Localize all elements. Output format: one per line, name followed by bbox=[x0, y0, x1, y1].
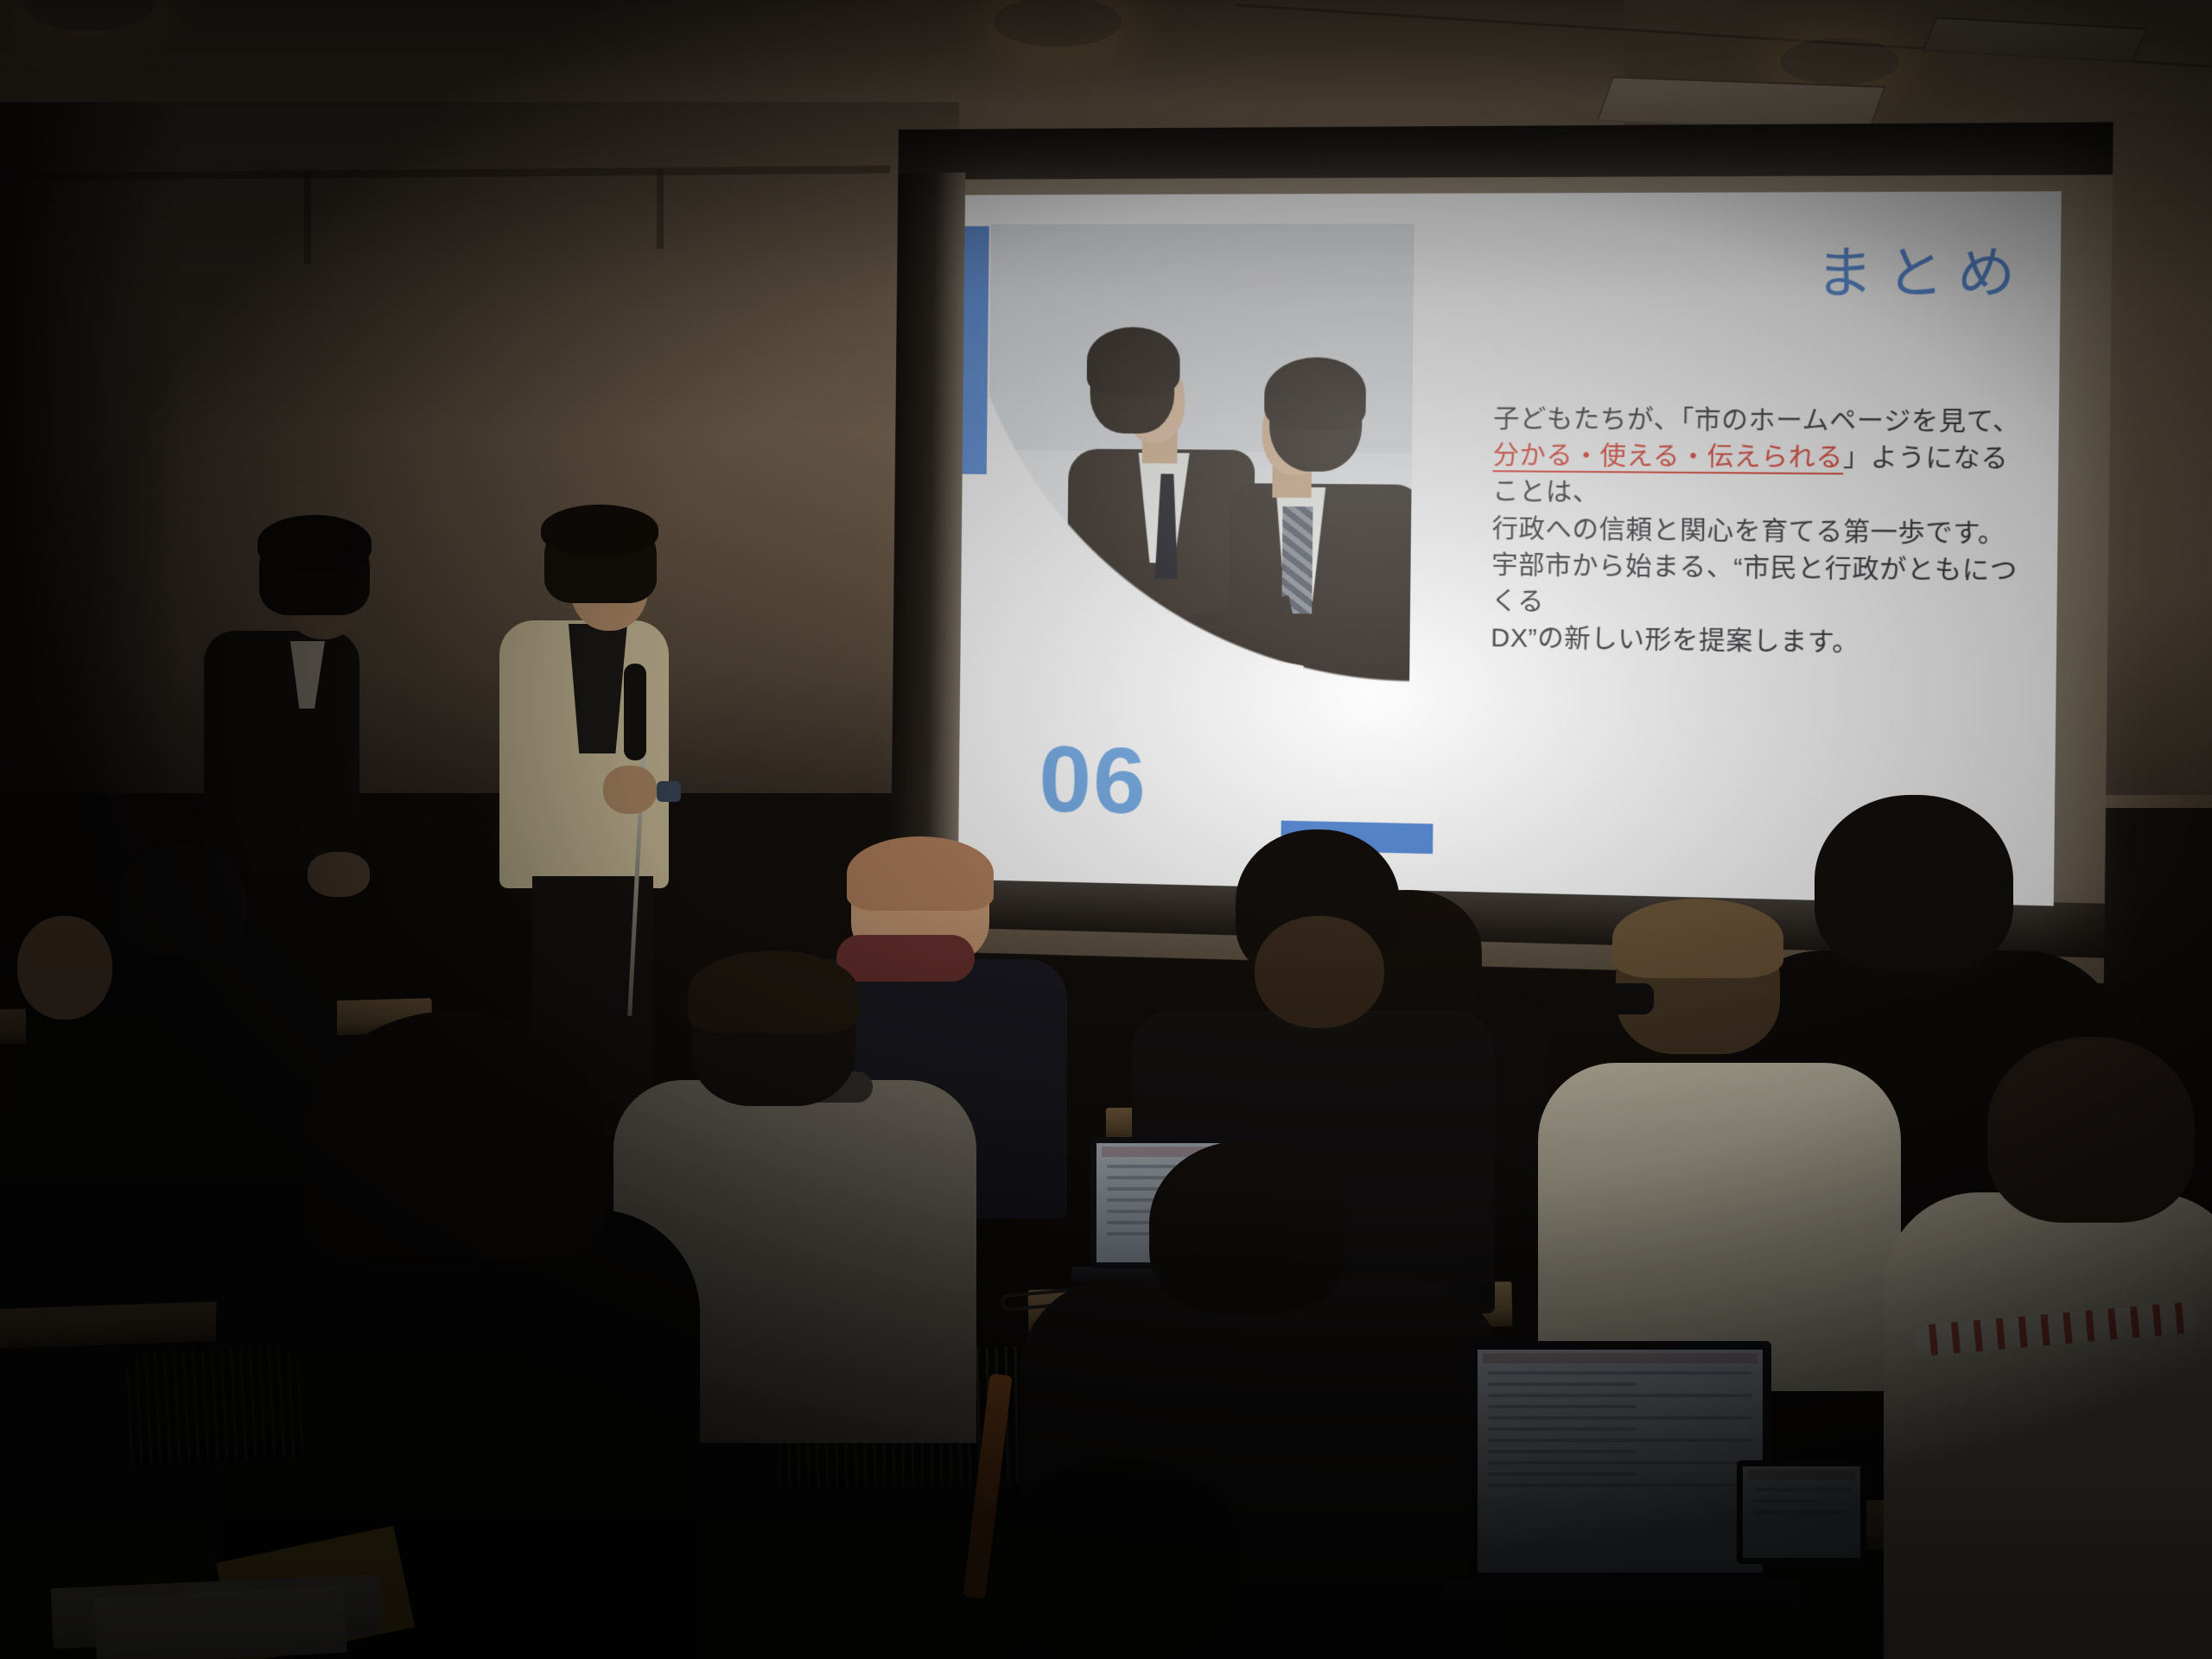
slide-section-number: 06 bbox=[1039, 732, 1148, 828]
presenter-left-hair-front bbox=[257, 515, 372, 570]
slide-title: まとめ bbox=[1815, 227, 2029, 308]
businessman-right-hair bbox=[1264, 357, 1366, 429]
slide-body-text: 子どもたちが、「市のホームページを見て、分かる・使える・伝えられる」ようになるこ… bbox=[1491, 402, 2030, 664]
air-vent bbox=[1597, 76, 1886, 130]
presenter-right-hand bbox=[603, 766, 657, 814]
conference-room-photo: 06 まとめ 子どもたちが、「市のホームページを見て、分かる・使える・伝えられる… bbox=[0, 0, 2212, 1659]
wall-conduit bbox=[304, 169, 311, 264]
audience-member-hair bbox=[1612, 899, 1783, 978]
microphone-icon bbox=[624, 664, 646, 760]
presenter-left-body bbox=[204, 631, 359, 890]
slide-body-highlight: 分かる・使える・伝えられる bbox=[1492, 442, 1843, 475]
wristwatch bbox=[657, 781, 681, 802]
laptop-screen[interactable] bbox=[1478, 1350, 1763, 1573]
audience-member-head bbox=[1987, 1037, 2195, 1223]
paper-document bbox=[93, 1585, 347, 1659]
slide-body-line4: DX”の新しい形を提案します。 bbox=[1491, 624, 1859, 658]
businessman-left-hair bbox=[1087, 327, 1180, 395]
presenter-left-hands bbox=[308, 852, 370, 897]
slide-body-line3: 宇部市から始まる、“市民と行政がともにつくる bbox=[1491, 551, 2018, 617]
audience-member-scarf bbox=[836, 935, 975, 982]
wall-conduit bbox=[657, 169, 664, 249]
audience-member-head bbox=[994, 1460, 1244, 1659]
slide-body-line2: 行政への信頼と関心を育てる第一歩です。 bbox=[1492, 515, 2006, 549]
audience-member-head bbox=[302, 1011, 605, 1262]
audience-member-hair-bun bbox=[1255, 916, 1384, 1028]
laptop-screen[interactable] bbox=[1743, 1466, 1860, 1558]
audience-member-hair bbox=[688, 950, 859, 1033]
audience-member-face bbox=[17, 916, 112, 1020]
screen-left-border bbox=[890, 173, 965, 952]
chair-mesh-back bbox=[125, 1344, 304, 1465]
audience-member-head bbox=[1149, 1141, 1348, 1313]
slide-body-line1-pre: 子どもたちが、「市のホームページを見て、 bbox=[1493, 405, 2020, 436]
presenter-right-hair-front bbox=[541, 505, 658, 555]
screen-top-border bbox=[898, 122, 2113, 180]
slide-accent-bar-left bbox=[963, 226, 989, 474]
audience-member-body bbox=[1884, 1192, 2212, 1659]
audience-member-hair bbox=[847, 836, 994, 911]
eyeglasses-worn bbox=[1609, 983, 1654, 1014]
ceiling-downlight-icon bbox=[1780, 38, 1899, 85]
audience-member-head bbox=[1815, 795, 2013, 972]
laptop-base bbox=[1445, 1580, 1799, 1605]
audience-member-head bbox=[117, 845, 246, 956]
wall-left-shadow bbox=[0, 102, 181, 793]
